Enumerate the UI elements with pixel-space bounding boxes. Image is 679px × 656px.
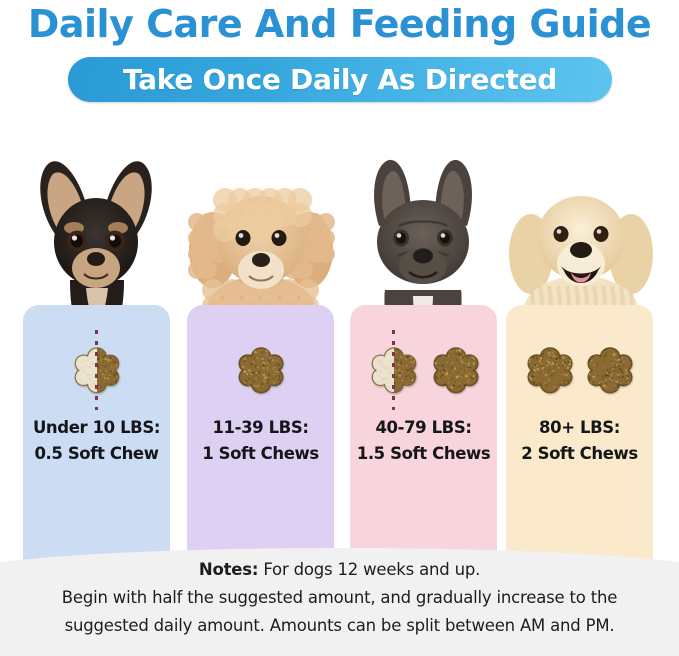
chew-illustration	[187, 331, 334, 409]
poodle-photo	[177, 130, 345, 320]
chew-illustration	[350, 331, 497, 409]
notes-text: Notes: For dogs 12 weeks and up. Begin w…	[0, 556, 679, 640]
feeding-guide-infographic: Daily Care And Feeding Guide Take Once D…	[0, 0, 679, 656]
dose-card-label: Under 10 LBS:0.5 Soft Chew	[23, 415, 170, 467]
half-chew	[366, 330, 422, 410]
notes-line-2: Begin with half the suggested amount, an…	[0, 584, 679, 612]
dose-amount: 1.5 Soft Chews	[350, 441, 497, 467]
dose-amount: 0.5 Soft Chew	[23, 441, 170, 467]
dose-card-label: 11-39 LBS:1 Soft Chews	[187, 415, 334, 467]
chew-icon	[430, 344, 482, 396]
dose-cards-row: Under 10 LBS:0.5 Soft Chew11-39 LBS:1 So…	[0, 130, 679, 530]
weight-range: 40-79 LBS:	[350, 415, 497, 441]
notes-line-1-rest: For dogs 12 weeks and up.	[258, 560, 480, 579]
notes-line-3: suggested daily amount. Amounts can be s…	[0, 612, 679, 640]
chew-icon	[524, 344, 576, 396]
chew-icon	[584, 344, 636, 396]
directions-pill: Take Once Daily As Directed	[68, 57, 612, 102]
chew-icon	[235, 344, 287, 396]
chihuahua-photo	[12, 130, 180, 320]
chew-illustration	[23, 331, 170, 409]
notes-label: Notes:	[199, 560, 258, 579]
dose-card-label: 40-79 LBS:1.5 Soft Chews	[350, 415, 497, 467]
weight-range: 11-39 LBS:	[187, 415, 334, 441]
half-chew	[69, 330, 125, 410]
golden-retriever-photo	[497, 130, 665, 320]
dose-amount: 1 Soft Chews	[187, 441, 334, 467]
weight-range: 80+ LBS:	[506, 415, 653, 441]
half-dose-dotted-line	[95, 330, 98, 410]
directions-pill-label: Take Once Daily As Directed	[123, 65, 557, 95]
chew-illustration	[506, 331, 653, 409]
page-title: Daily Care And Feeding Guide	[0, 2, 679, 46]
weight-range: Under 10 LBS:	[23, 415, 170, 441]
french-bulldog-photo	[339, 130, 507, 320]
notes-line-1: Notes: For dogs 12 weeks and up.	[0, 556, 679, 584]
dose-amount: 2 Soft Chews	[506, 441, 653, 467]
dose-card-label: 80+ LBS:2 Soft Chews	[506, 415, 653, 467]
half-dose-dotted-line	[392, 330, 395, 410]
